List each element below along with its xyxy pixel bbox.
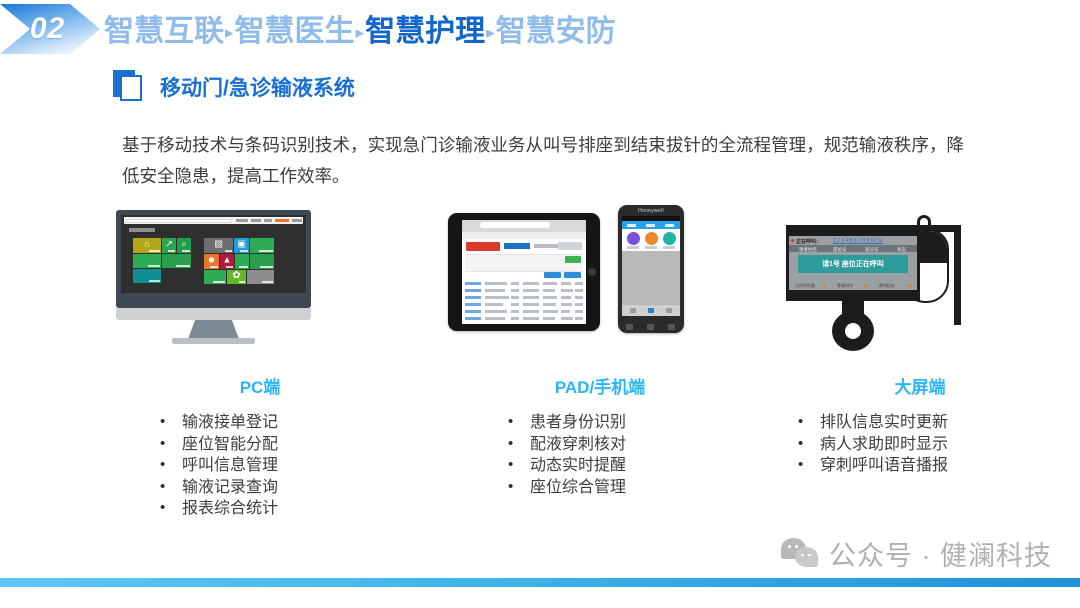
tile-bag[interactable]: ▲ [220,254,234,269]
recents-button-icon[interactable] [668,324,675,330]
monitor-bezel: ⌂ ↗ ⌕ [116,210,311,308]
home-icon: ⌂ [144,240,149,249]
footer-cell: 呼叫历史 [879,283,895,289]
breadcrumb-item-2[interactable]: 智慧医生 [235,15,355,48]
footer-watermark: 公众号 · 健澜科技 [781,534,1052,573]
slide-header: 02 智慧互联▸智慧医生▸智慧护理▸智慧安防 [0,0,1080,58]
iv-pole-vertical [954,225,961,325]
tile-label [210,266,218,269]
browser-menu-item [251,219,261,222]
wechat-eye [788,545,791,548]
display-mount-ring [832,311,874,351]
back-button-icon[interactable] [626,324,633,330]
queue-marquee: 1 2 3 4 5 6 7 8 9 10 11 [833,238,883,244]
table-row[interactable] [465,281,583,286]
tablet-device [448,213,600,331]
tile-plain[interactable] [247,270,274,284]
tile-plain[interactable] [133,254,161,268]
breadcrumb-item-4[interactable]: 智慧安防 [496,15,616,48]
breadcrumb-item-3[interactable]: 智慧护理 [365,15,485,48]
phone-brand-label: Honeywell [618,208,684,214]
tile-label [149,280,160,283]
tile-plain[interactable] [133,269,161,283]
breadcrumb-separator-icon: ▸ [224,23,235,42]
column-big-screen: 正在呼叫： 1 2 3 4 5 6 7 8 9 10 11 患者姓名 座位号 就… [760,205,1080,477]
id-card-icon: ▣ [237,240,246,249]
footer-marker-icon [864,283,868,287]
gear-icon: ✿ [232,271,240,281]
tile-plain[interactable] [162,254,191,268]
tile-settings[interactable]: ✿ [227,270,246,284]
tablet-phone-icon: Honeywell [448,205,708,355]
breadcrumb-separator-icon: ▸ [485,23,496,42]
list-item: 病人求助即时显示 [786,434,1080,456]
tile-label [239,266,248,269]
breadcrumb: 智慧互联▸智慧医生▸智慧护理▸智慧安防 [104,6,616,50]
table-row[interactable] [465,295,583,300]
list-item: 动态实时提醒 [496,455,780,477]
image-icon: ▨ [214,240,223,249]
breadcrumb-separator-icon: ▸ [355,23,366,42]
badge-number-label: 02 [0,4,95,54]
user-icon: ☻ [207,256,216,265]
list-item: 患者身份识别 [496,412,780,434]
list-item: 输液接单登记 [148,412,460,434]
tile-user[interactable]: ☻ [204,254,219,269]
tablet-tab-strip [462,232,586,239]
chart-arrow-icon: ↗ [165,240,173,249]
display-screen: 正在呼叫： 1 2 3 4 5 6 7 8 9 10 11 患者姓名 座位号 就… [789,236,917,290]
feature-list-pad: 患者身份识别 配液穿刺核对 动态实时提醒 座位综合管理 [420,412,780,498]
pc-illustration: ⌂ ↗ ⌕ [60,205,460,355]
calling-banner: 请1号 座位正在呼叫 [798,255,908,273]
list-item: 输液记录查询 [148,477,460,499]
tile-label [262,281,273,284]
table-row[interactable] [465,309,583,314]
description-paragraph: 基于移动技术与条码识别技术，实现急门诊输液业务从叫号排座到结束拔针的全流程管理，… [122,130,964,192]
footer-marker-icon [822,283,826,287]
header-cell: 就诊号 [865,247,879,253]
phone-nav-item-1[interactable] [630,308,636,313]
tile-label [225,250,232,253]
phone-tab-1[interactable] [627,224,636,227]
browser-menu-item [236,219,248,222]
phone-action-label-1 [627,246,639,249]
tile-home[interactable]: ⌂ [133,238,161,253]
site-subbrand-text [534,244,558,248]
tablet-home-button[interactable] [588,268,596,276]
tile-label [182,250,190,253]
table-row[interactable] [465,302,583,307]
double-square-icon [113,70,147,104]
tile-label [240,250,248,253]
footer-cell: 已叫号列表 [795,283,815,289]
section-number-badge: 02 [0,4,105,54]
monitor-screen: ⌂ ↗ ⌕ [121,215,306,293]
search-icon: ⌕ [181,240,186,249]
feature-list-big: 排队信息实时更新 病人求助即时显示 穿刺呼叫语音播报 [760,412,1080,477]
tile-plain[interactable] [204,270,226,284]
monitor-chin [116,308,311,320]
phone-action-label-3 [663,246,675,249]
tile-plain[interactable] [235,254,249,269]
section-subtitle-label: 移动门/急诊输液系统 [160,72,355,102]
monitor-stand-base [172,338,255,344]
header-cell: 状态 [897,247,906,253]
footer-accent-bar [0,578,1080,587]
phone-nav-item-2[interactable] [648,308,654,313]
action-button-1[interactable] [544,272,561,278]
tile-search[interactable]: ⌕ [177,238,191,253]
list-item: 配液穿刺核对 [496,434,780,456]
large-display-icon: 正在呼叫： 1 2 3 4 5 6 7 8 9 10 11 患者姓名 座位号 就… [786,207,996,352]
table-row[interactable] [465,316,583,321]
pad-illustration: Honeywell [420,205,780,355]
tablet-browser-chrome [462,220,586,232]
wechat-eye [808,554,811,557]
list-item: 呼叫信息管理 [148,455,460,477]
display-footer-row: 已叫号列表 等候叫号 呼叫历史 [789,283,917,289]
alert-marker-icon [790,238,794,242]
action-button-2[interactable] [564,272,581,278]
calling-banner-text: 请1号 座位正在呼叫 [822,259,884,269]
list-item: 排队信息实时更新 [786,412,1080,434]
wechat-icon [781,538,819,570]
phone-action-icon-2[interactable] [645,232,658,245]
list-item: 报表综合统计 [148,498,460,520]
list-item: 座位智能分配 [148,434,460,456]
tile-label [259,250,273,253]
query-button[interactable] [565,256,581,263]
feature-list-pc: 输液接单登记 座位智能分配 呼叫信息管理 输液记录查询 报表综合统计 [60,412,460,520]
tile-label [149,250,160,253]
home-button-icon[interactable] [647,324,654,330]
list-item: 座位综合管理 [496,477,780,499]
user-account-chip[interactable] [558,242,582,250]
phone-action-icon-1[interactable] [627,232,640,245]
desktop-monitor-icon: ⌂ ↗ ⌕ [116,210,311,345]
tile-label [213,281,225,284]
footer-watermark-label: 公众号 · 健澜科技 [829,534,1052,573]
tile-id-card[interactable]: ▣ [234,238,249,253]
tablet-screen [462,220,586,324]
list-item: 穿刺呼叫语音播报 [786,455,1080,477]
phone-action-label-2 [645,246,657,249]
tile-label [176,265,190,268]
bag-icon: ▲ [223,256,232,265]
tile-plain[interactable] [250,254,274,269]
wechat-bubble-small [795,547,818,567]
phone-tab-3[interactable] [665,224,674,227]
phone-tab-bar[interactable] [622,221,680,229]
browser-menu-item-highlight [275,219,289,222]
header-cell: 患者姓名 [799,247,817,253]
display-frame: 正在呼叫： 1 2 3 4 5 6 7 8 9 10 11 患者姓名 座位号 就… [786,225,920,301]
big-screen-illustration: 正在呼叫： 1 2 3 4 5 6 7 8 9 10 11 患者姓名 座位号 就… [760,205,1080,355]
tile-label [226,266,233,269]
breadcrumb-item-1[interactable]: 智慧互联 [104,15,224,48]
site-brand-text [504,243,530,249]
phone-device: Honeywell [618,205,684,333]
phone-action-panel [622,229,680,251]
browser-menu-item [264,219,272,222]
calling-label: 正在呼叫： [796,238,821,245]
phone-bottom-nav[interactable] [622,305,680,316]
app-title-placeholder [129,228,155,232]
tile-label [148,265,160,268]
display-table-header: 患者姓名 座位号 就诊号 状态 [789,245,917,252]
browser-toolbar [124,217,303,224]
browser-address-bar [126,219,232,223]
site-logo [466,242,500,251]
browser-window-controls [292,219,302,222]
column-pad: Honeywell [420,205,780,498]
column-title-pad: PAD/手机端 [420,373,780,398]
phone-tab-2[interactable] [646,224,655,227]
header-cell: 座位号 [833,247,847,253]
footer-cell: 等候叫号 [837,283,853,289]
table-row[interactable] [465,288,583,293]
phone-screen [622,216,680,316]
tile-plain[interactable] [250,238,274,253]
tile-label [168,250,175,253]
footer-marker-icon [908,283,912,287]
wechat-eye [795,545,798,548]
tile-chart[interactable]: ↗ [162,238,176,253]
square-front-shape [120,75,142,101]
wechat-eye [801,554,804,557]
phone-nav-item-3[interactable] [666,308,672,313]
phone-action-icon-3[interactable] [663,232,676,245]
column-title-pc: PC端 [60,373,460,398]
tablet-address-bar [480,222,550,228]
phone-android-buttons [622,324,680,330]
tile-image[interactable]: ▨ [204,238,233,253]
monitor-stand-neck [188,320,239,339]
column-title-big: 大屏端 [760,373,1080,398]
column-pc: ⌂ ↗ ⌕ [60,205,460,520]
tile-label [239,281,245,284]
tile-label [260,266,273,269]
